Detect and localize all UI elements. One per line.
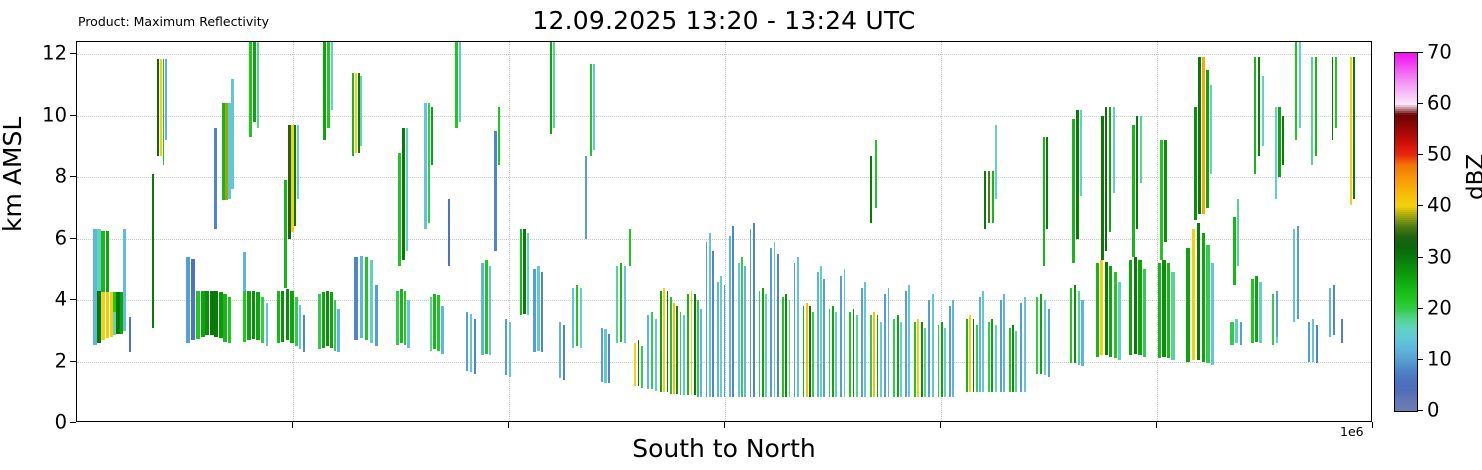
reflectivity-cell bbox=[196, 291, 200, 339]
reflectivity-column bbox=[660, 42, 662, 422]
reflectivity-cell bbox=[655, 319, 657, 391]
reflectivity-column bbox=[152, 42, 154, 422]
reflectivity-cell bbox=[884, 294, 886, 397]
reflectivity-column bbox=[712, 42, 714, 422]
reflectivity-column bbox=[1003, 42, 1005, 422]
reflectivity-column bbox=[812, 42, 814, 422]
reflectivity-cell bbox=[1295, 42, 1297, 140]
reflectivity-cell bbox=[123, 229, 126, 330]
reflectivity-cell bbox=[129, 317, 131, 352]
reflectivity-column bbox=[337, 42, 340, 422]
reflectivity-cell bbox=[905, 291, 907, 397]
reflectivity-cell bbox=[448, 199, 450, 267]
reflectivity-cell bbox=[844, 269, 846, 397]
reflectivity-cell bbox=[724, 285, 726, 397]
reflectivity-column bbox=[201, 42, 205, 422]
reflectivity-column bbox=[832, 42, 834, 422]
reflectivity-cell bbox=[533, 269, 535, 352]
x-axis-tick-mark bbox=[508, 422, 509, 428]
reflectivity-cell bbox=[1080, 110, 1082, 196]
reflectivity-cell bbox=[875, 140, 877, 208]
reflectivity-column bbox=[1202, 42, 1205, 422]
reflectivity-column bbox=[620, 42, 622, 422]
reflectivity-cell bbox=[797, 257, 799, 397]
reflectivity-cell bbox=[257, 42, 259, 128]
reflectivity-cell bbox=[812, 312, 814, 396]
colorbar-tick-label: 70 bbox=[1427, 41, 1452, 64]
colorbar-tick-mark bbox=[1417, 257, 1423, 258]
reflectivity-column bbox=[1335, 42, 1337, 422]
reflectivity-cell bbox=[914, 322, 916, 397]
reflectivity-cell bbox=[976, 325, 978, 393]
reflectivity-column bbox=[1020, 42, 1022, 422]
reflectivity-column bbox=[759, 42, 761, 422]
reflectivity-cell bbox=[593, 64, 595, 150]
reflectivity-column bbox=[533, 42, 535, 422]
reflectivity-cell bbox=[1353, 57, 1355, 198]
reflectivity-column bbox=[651, 42, 653, 422]
reflectivity-column bbox=[744, 42, 746, 422]
reflectivity-column bbox=[470, 42, 473, 422]
y-axis-tick-mark bbox=[70, 361, 76, 362]
reflectivity-column bbox=[829, 42, 831, 422]
reflectivity-column bbox=[806, 42, 808, 422]
reflectivity-column bbox=[509, 42, 511, 422]
reflectivity-column bbox=[785, 42, 787, 422]
reflectivity-cell bbox=[660, 291, 662, 392]
reflectivity-cell bbox=[676, 306, 678, 394]
x-axis-tick-mark bbox=[724, 422, 725, 428]
reflectivity-cell bbox=[370, 260, 373, 343]
reflectivity-cell bbox=[1282, 116, 1284, 165]
reflectivity-cell bbox=[365, 257, 368, 340]
colorbar-tick-mark bbox=[1417, 410, 1423, 411]
reflectivity-cell bbox=[893, 319, 895, 397]
reflectivity-cell bbox=[428, 103, 430, 223]
reflectivity-column bbox=[663, 42, 665, 422]
reflectivity-cell bbox=[191, 259, 195, 340]
reflectivity-column bbox=[984, 42, 986, 422]
reflectivity-column bbox=[1043, 42, 1045, 422]
reflectivity-column bbox=[732, 42, 734, 422]
reflectivity-column bbox=[988, 42, 990, 422]
reflectivity-column bbox=[498, 42, 500, 422]
reflectivity-cell bbox=[700, 309, 702, 397]
reflectivity-column bbox=[893, 42, 895, 422]
reflectivity-cell bbox=[559, 322, 561, 379]
reflectivity-column bbox=[700, 42, 702, 422]
reflectivity-cell bbox=[1276, 291, 1278, 337]
reflectivity-cell bbox=[186, 257, 190, 343]
reflectivity-column bbox=[777, 42, 779, 422]
y-axis-tick-mark bbox=[70, 299, 76, 300]
reflectivity-column bbox=[629, 42, 631, 422]
reflectivity-cell bbox=[1009, 328, 1011, 393]
reflectivity-column bbox=[277, 42, 280, 422]
radar-reflectivity-figure: Product: Maximum Reflectivity 12.09.2025… bbox=[0, 0, 1482, 470]
reflectivity-cell bbox=[576, 285, 578, 346]
reflectivity-cell bbox=[152, 174, 154, 328]
reflectivity-column bbox=[191, 42, 195, 422]
reflectivity-cell bbox=[992, 171, 994, 223]
reflectivity-column bbox=[1096, 42, 1099, 422]
reflectivity-cell bbox=[277, 291, 280, 343]
reflectivity-cell bbox=[620, 263, 622, 341]
reflectivity-cell bbox=[969, 315, 971, 392]
reflectivity-column bbox=[1143, 42, 1146, 422]
reflectivity-cell bbox=[284, 180, 286, 288]
reflectivity-column bbox=[687, 42, 689, 422]
reflectivity-column bbox=[1113, 42, 1116, 422]
reflectivity-cell bbox=[249, 42, 252, 137]
reflectivity-column bbox=[402, 42, 404, 422]
reflectivity-cell bbox=[762, 288, 764, 397]
reflectivity-column bbox=[257, 42, 259, 422]
reflectivity-column bbox=[995, 42, 997, 422]
reflectivity-cell bbox=[541, 272, 543, 352]
colorbar-tick-label: 60 bbox=[1427, 92, 1452, 115]
reflectivity-cell bbox=[917, 319, 919, 397]
y-axis-tick-label: 4 bbox=[55, 288, 67, 311]
reflectivity-cell bbox=[979, 297, 981, 392]
reflectivity-cell bbox=[572, 288, 574, 348]
reflectivity-column bbox=[849, 42, 851, 422]
reflectivity-cell bbox=[1254, 57, 1257, 174]
reflectivity-cell bbox=[651, 312, 653, 389]
reflectivity-cell bbox=[938, 325, 940, 397]
reflectivity-column bbox=[431, 42, 433, 422]
reflectivity-cell bbox=[744, 266, 746, 397]
reflectivity-column bbox=[608, 42, 610, 422]
reflectivity-cell bbox=[629, 229, 631, 266]
reflectivity-cell bbox=[323, 42, 326, 140]
reflectivity-column bbox=[861, 42, 863, 422]
x-axis-tick-mark bbox=[940, 422, 941, 428]
reflectivity-column bbox=[527, 42, 529, 422]
colorbar-tick-label: 50 bbox=[1427, 143, 1452, 166]
reflectivity-column bbox=[1015, 42, 1017, 422]
reflectivity-column bbox=[932, 42, 934, 422]
reflectivity-cell bbox=[485, 260, 487, 354]
reflectivity-cell bbox=[809, 306, 811, 397]
reflectivity-column bbox=[1258, 42, 1261, 422]
reflectivity-column bbox=[1109, 42, 1112, 422]
reflectivity-cell bbox=[1278, 107, 1280, 178]
reflectivity-column bbox=[888, 42, 890, 422]
reflectivity-cell bbox=[785, 294, 787, 397]
reflectivity-column bbox=[706, 42, 708, 422]
reflectivity-cell bbox=[782, 297, 784, 397]
reflectivity-column bbox=[1315, 42, 1317, 422]
y-axis-label: km AMSL bbox=[0, 117, 27, 232]
reflectivity-column bbox=[817, 42, 819, 422]
y-axis-tick-label: 10 bbox=[42, 103, 67, 126]
reflectivity-column bbox=[1012, 42, 1014, 422]
reflectivity-cell bbox=[1258, 57, 1261, 155]
reflectivity-cell bbox=[1164, 140, 1167, 241]
reflectivity-column bbox=[459, 42, 461, 422]
reflectivity-cell bbox=[527, 233, 529, 316]
reflectivity-column bbox=[297, 42, 299, 422]
y-axis-tick-mark bbox=[70, 115, 76, 116]
reflectivity-column bbox=[186, 42, 190, 422]
reflectivity-cell bbox=[908, 285, 910, 397]
reflectivity-column bbox=[655, 42, 657, 422]
reflectivity-cell bbox=[647, 315, 649, 389]
reflectivity-cell bbox=[973, 319, 975, 393]
reflectivity-column bbox=[797, 42, 799, 422]
colorbar-segment bbox=[1395, 52, 1417, 55]
reflectivity-column bbox=[1276, 42, 1278, 422]
reflectivity-column bbox=[196, 42, 200, 422]
reflectivity-column bbox=[334, 42, 337, 422]
reflectivity-column bbox=[667, 42, 669, 422]
reflectivity-column bbox=[214, 42, 217, 422]
reflectivity-column bbox=[647, 42, 649, 422]
reflectivity-column bbox=[789, 42, 791, 422]
reflectivity-column bbox=[601, 42, 603, 422]
reflectivity-column bbox=[261, 42, 264, 422]
reflectivity-column bbox=[1233, 42, 1236, 422]
reflectivity-column bbox=[253, 42, 256, 422]
colorbar bbox=[1394, 52, 1418, 412]
reflectivity-cell bbox=[97, 291, 101, 343]
reflectivity-cell bbox=[1109, 107, 1112, 233]
reflectivity-cell bbox=[509, 322, 511, 377]
reflectivity-column bbox=[231, 42, 234, 422]
colorbar-tick-mark bbox=[1417, 154, 1423, 155]
reflectivity-column bbox=[323, 42, 326, 422]
reflectivity-column bbox=[249, 42, 252, 422]
reflectivity-column bbox=[709, 42, 711, 422]
reflectivity-column bbox=[1282, 42, 1284, 422]
x-axis-offset-text: 1e6 bbox=[1340, 424, 1364, 439]
reflectivity-column bbox=[398, 42, 400, 422]
reflectivity-cell bbox=[1113, 107, 1116, 193]
reflectivity-column bbox=[505, 42, 507, 422]
reflectivity-cell bbox=[608, 334, 610, 383]
reflectivity-cell bbox=[243, 291, 246, 342]
reflectivity-column bbox=[406, 42, 408, 422]
reflectivity-column bbox=[750, 42, 752, 422]
reflectivity-column bbox=[1080, 42, 1082, 422]
reflectivity-cell bbox=[1210, 85, 1213, 174]
reflectivity-column bbox=[593, 42, 595, 422]
reflectivity-cell bbox=[832, 306, 834, 397]
reflectivity-column bbox=[979, 42, 981, 422]
reflectivity-cell bbox=[829, 309, 831, 397]
reflectivity-column bbox=[352, 42, 354, 422]
reflectivity-cell bbox=[984, 171, 986, 229]
reflectivity-cell bbox=[1043, 137, 1045, 266]
reflectivity-cell bbox=[697, 300, 699, 397]
reflectivity-column bbox=[1132, 42, 1135, 422]
reflectivity-column bbox=[441, 42, 444, 422]
reflectivity-column bbox=[641, 42, 643, 422]
reflectivity-cell bbox=[205, 291, 209, 336]
reflectivity-cell bbox=[1341, 319, 1343, 344]
reflectivity-cell bbox=[433, 294, 436, 349]
reflectivity-cell bbox=[663, 288, 665, 392]
reflectivity-column bbox=[550, 42, 552, 422]
reflectivity-cell bbox=[753, 223, 755, 397]
reflectivity-column bbox=[765, 42, 767, 422]
reflectivity-cell bbox=[407, 300, 410, 348]
reflectivity-cell bbox=[1096, 263, 1099, 357]
y-axis-tick-mark bbox=[70, 422, 76, 423]
reflectivity-column bbox=[952, 42, 954, 422]
reflectivity-cell bbox=[1143, 269, 1146, 357]
reflectivity-column bbox=[753, 42, 755, 422]
reflectivity-column bbox=[616, 42, 618, 422]
reflectivity-column bbox=[1210, 42, 1213, 422]
reflectivity-column bbox=[624, 42, 626, 422]
reflectivity-cell bbox=[1315, 57, 1317, 155]
reflectivity-cell bbox=[580, 288, 582, 348]
reflectivity-cell bbox=[924, 328, 926, 397]
reflectivity-column bbox=[1072, 42, 1074, 422]
reflectivity-column bbox=[537, 42, 539, 422]
x-axis-tick-mark bbox=[1372, 422, 1373, 428]
reflectivity-column bbox=[1278, 42, 1280, 422]
page-title: 12.09.2025 13:20 - 13:24 UTC bbox=[76, 6, 1372, 35]
reflectivity-column bbox=[844, 42, 846, 422]
reflectivity-cell bbox=[402, 128, 404, 260]
reflectivity-column bbox=[1254, 42, 1257, 422]
reflectivity-column bbox=[835, 42, 837, 422]
reflectivity-cell bbox=[888, 288, 890, 397]
reflectivity-column bbox=[485, 42, 487, 422]
reflectivity-cell bbox=[941, 322, 943, 397]
reflectivity-cell bbox=[601, 328, 603, 382]
reflectivity-column bbox=[433, 42, 436, 422]
reflectivity-column bbox=[1186, 42, 1190, 422]
reflectivity-column bbox=[884, 42, 886, 422]
reflectivity-cell bbox=[253, 42, 256, 122]
x-axis-tick-mark bbox=[292, 422, 293, 428]
reflectivity-cell bbox=[1160, 140, 1163, 260]
reflectivity-column bbox=[1024, 42, 1026, 422]
reflectivity-cell bbox=[455, 42, 457, 128]
reflectivity-column bbox=[1046, 42, 1048, 422]
reflectivity-column bbox=[576, 42, 578, 422]
reflectivity-column bbox=[520, 42, 522, 422]
colorbar-tick-mark bbox=[1417, 52, 1423, 53]
reflectivity-column bbox=[673, 42, 675, 422]
reflectivity-column bbox=[360, 42, 362, 422]
reflectivity-column bbox=[210, 42, 214, 422]
y-axis-tick-mark bbox=[70, 176, 76, 177]
reflectivity-column bbox=[1171, 42, 1174, 422]
reflectivity-cell bbox=[481, 263, 483, 355]
y-axis-tick-mark bbox=[70, 238, 76, 239]
reflectivity-cell bbox=[1132, 125, 1135, 257]
reflectivity-cell bbox=[803, 306, 805, 397]
reflectivity-column bbox=[823, 42, 825, 422]
reflectivity-column bbox=[97, 42, 101, 422]
reflectivity-cell bbox=[201, 291, 205, 337]
reflectivity-column bbox=[129, 42, 131, 422]
reflectivity-column bbox=[1237, 42, 1240, 422]
reflectivity-cell bbox=[952, 300, 954, 397]
reflectivity-column bbox=[691, 42, 693, 422]
reflectivity-column bbox=[572, 42, 574, 422]
reflectivity-cell bbox=[520, 229, 522, 315]
reflectivity-column bbox=[303, 42, 306, 422]
reflectivity-cell bbox=[673, 303, 675, 394]
reflectivity-cell bbox=[1311, 57, 1313, 165]
reflectivity-column bbox=[466, 42, 469, 422]
reflectivity-cell bbox=[1136, 116, 1139, 230]
reflectivity-cell bbox=[489, 266, 491, 355]
reflectivity-cell bbox=[1332, 57, 1334, 140]
reflectivity-column bbox=[840, 42, 842, 422]
reflectivity-cell bbox=[634, 343, 636, 386]
reflectivity-cell bbox=[988, 171, 990, 223]
reflectivity-column bbox=[590, 42, 592, 422]
reflectivity-column bbox=[941, 42, 943, 422]
reflectivity-cell bbox=[505, 319, 507, 376]
reflectivity-cell bbox=[165, 59, 167, 140]
reflectivity-column bbox=[1036, 42, 1038, 422]
reflectivity-cell bbox=[1015, 331, 1017, 392]
reflectivity-column bbox=[680, 42, 682, 422]
reflectivity-cell bbox=[424, 103, 426, 229]
reflectivity-cell bbox=[880, 322, 882, 397]
reflectivity-column bbox=[299, 42, 302, 422]
reflectivity-column bbox=[921, 42, 923, 422]
reflectivity-cell bbox=[853, 309, 855, 397]
reflectivity-cell bbox=[266, 303, 269, 346]
reflectivity-column bbox=[774, 42, 776, 422]
reflectivity-column bbox=[1350, 42, 1352, 422]
reflectivity-cell bbox=[1046, 137, 1048, 229]
reflectivity-column bbox=[917, 42, 919, 422]
reflectivity-column bbox=[724, 42, 726, 422]
reflectivity-column bbox=[634, 42, 636, 422]
reflectivity-cell bbox=[864, 282, 866, 397]
reflectivity-column bbox=[563, 42, 565, 422]
reflectivity-column bbox=[938, 42, 940, 422]
reflectivity-cell bbox=[331, 42, 333, 110]
reflectivity-cell bbox=[712, 251, 714, 397]
x-axis-label: South to North bbox=[76, 434, 1372, 463]
reflectivity-cell bbox=[441, 306, 444, 354]
colorbar-tick-mark bbox=[1417, 308, 1423, 309]
reflectivity-cell bbox=[474, 319, 476, 374]
reflectivity-column bbox=[928, 42, 930, 422]
reflectivity-cell bbox=[523, 229, 525, 313]
reflectivity-cell bbox=[995, 125, 997, 199]
reflectivity-column bbox=[123, 42, 126, 422]
reflectivity-column bbox=[905, 42, 907, 422]
reflectivity-cell bbox=[437, 295, 440, 350]
reflectivity-column bbox=[365, 42, 368, 422]
y-axis-tick-label: 0 bbox=[55, 411, 67, 434]
reflectivity-cell bbox=[93, 229, 97, 344]
reflectivity-column bbox=[1299, 42, 1301, 422]
reflectivity-cell bbox=[318, 294, 321, 349]
reflectivity-column bbox=[880, 42, 882, 422]
reflectivity-cell bbox=[303, 315, 306, 352]
reflectivity-cell bbox=[820, 266, 822, 397]
reflectivity-cell bbox=[921, 322, 923, 397]
reflectivity-cell bbox=[709, 233, 711, 397]
reflectivity-column bbox=[288, 42, 290, 422]
reflectivity-column bbox=[770, 42, 772, 422]
reflectivity-column bbox=[803, 42, 805, 422]
reflectivity-column bbox=[738, 42, 740, 422]
